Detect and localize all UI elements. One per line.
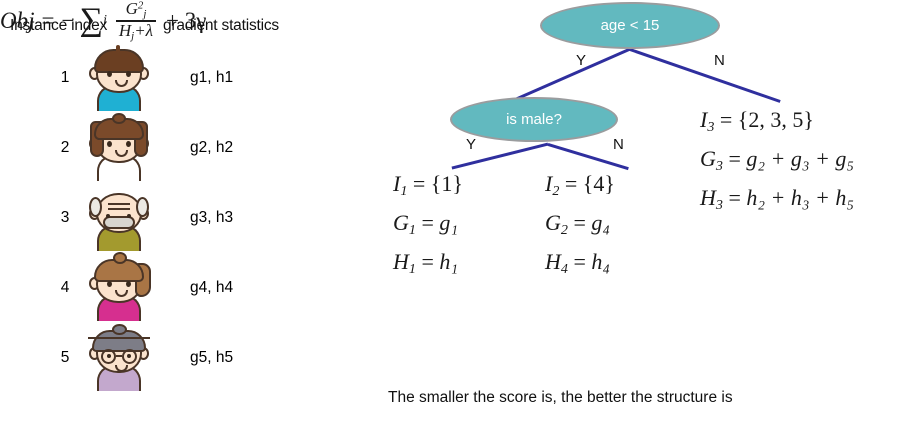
leaf-stats-2: I2 = {4} G2 = g₄ H4 = h₄	[545, 168, 615, 285]
table-row: 3 g3, h3	[0, 185, 340, 255]
young-woman-avatar	[88, 255, 150, 321]
girl-avatar	[88, 115, 150, 181]
fraction-denominator: Hj+λ	[116, 22, 156, 42]
edge-label-male-no: N	[613, 136, 624, 153]
table-row: 4 g4, h4	[0, 255, 340, 325]
objective-formula: Obj = − ∑ j G2j Hj+λ + 3γ	[0, 0, 920, 42]
table-row: 1 g1, h1	[0, 45, 340, 115]
row-gradient-stats: g3, h3	[190, 209, 233, 227]
leaf-3-line-1: I3 = {2, 3, 5}	[700, 104, 854, 143]
tree-node-root-label: age < 15	[601, 17, 660, 34]
tree-edge-root-yes	[515, 48, 631, 101]
tree-node-root[interactable]: age < 15	[540, 2, 720, 49]
leaf-3-line-3: H3 = h₂ + h₃ + h₅	[700, 182, 854, 221]
edge-label-root-no: N	[714, 52, 725, 69]
tree-node-is-male-label: is male?	[506, 111, 562, 128]
boy-avatar	[88, 45, 150, 111]
figure-caption: The smaller the score is, the better the…	[388, 389, 733, 407]
row-index: 5	[52, 349, 78, 367]
leaf-stats-3: I3 = {2, 3, 5} G3 = g₂ + g₃ + g₅ H3 = h₂…	[700, 104, 854, 221]
leaf-1-line-2: G1 = g₁	[393, 207, 463, 246]
column-header-gradient-statistics: gradient statistics	[163, 17, 279, 35]
table-row: 2 g2, h2	[0, 115, 340, 185]
figure-canvas: Instance index gradient statistics 1 g1,…	[0, 0, 920, 421]
leaf-3-line-2: G3 = g₂ + g₃ + g₅	[700, 143, 854, 182]
tree-edge-root-no	[630, 48, 781, 102]
column-header-instance-index: Instance index	[10, 17, 107, 35]
leaf-2-line-1: I2 = {4}	[545, 168, 615, 207]
table-row: 5 g5, h5	[0, 325, 340, 395]
leaf-stats-1: I1 = {1} G1 = g₁ H1 = h₁	[393, 168, 463, 285]
edge-label-male-yes: Y	[466, 136, 476, 153]
objective-fraction: G2j Hj+λ	[116, 0, 156, 42]
old-man-avatar	[88, 185, 150, 251]
row-gradient-stats: g2, h2	[190, 139, 233, 157]
row-index: 1	[52, 69, 78, 87]
leaf-1-line-1: I1 = {1}	[393, 168, 463, 207]
row-gradient-stats: g1, h1	[190, 69, 233, 87]
fraction-numerator: G2j	[123, 0, 150, 20]
row-gradient-stats: g5, h5	[190, 349, 233, 367]
row-index: 4	[52, 279, 78, 297]
leaf-2-line-2: G2 = g₄	[545, 207, 615, 246]
old-woman-avatar	[88, 325, 150, 391]
row-index: 3	[52, 209, 78, 227]
row-index: 2	[52, 139, 78, 157]
leaf-1-line-3: H1 = h₁	[393, 246, 463, 285]
row-gradient-stats: g4, h4	[190, 279, 233, 297]
edge-label-root-yes: Y	[576, 52, 586, 69]
leaf-2-line-3: H4 = h₄	[545, 246, 615, 285]
